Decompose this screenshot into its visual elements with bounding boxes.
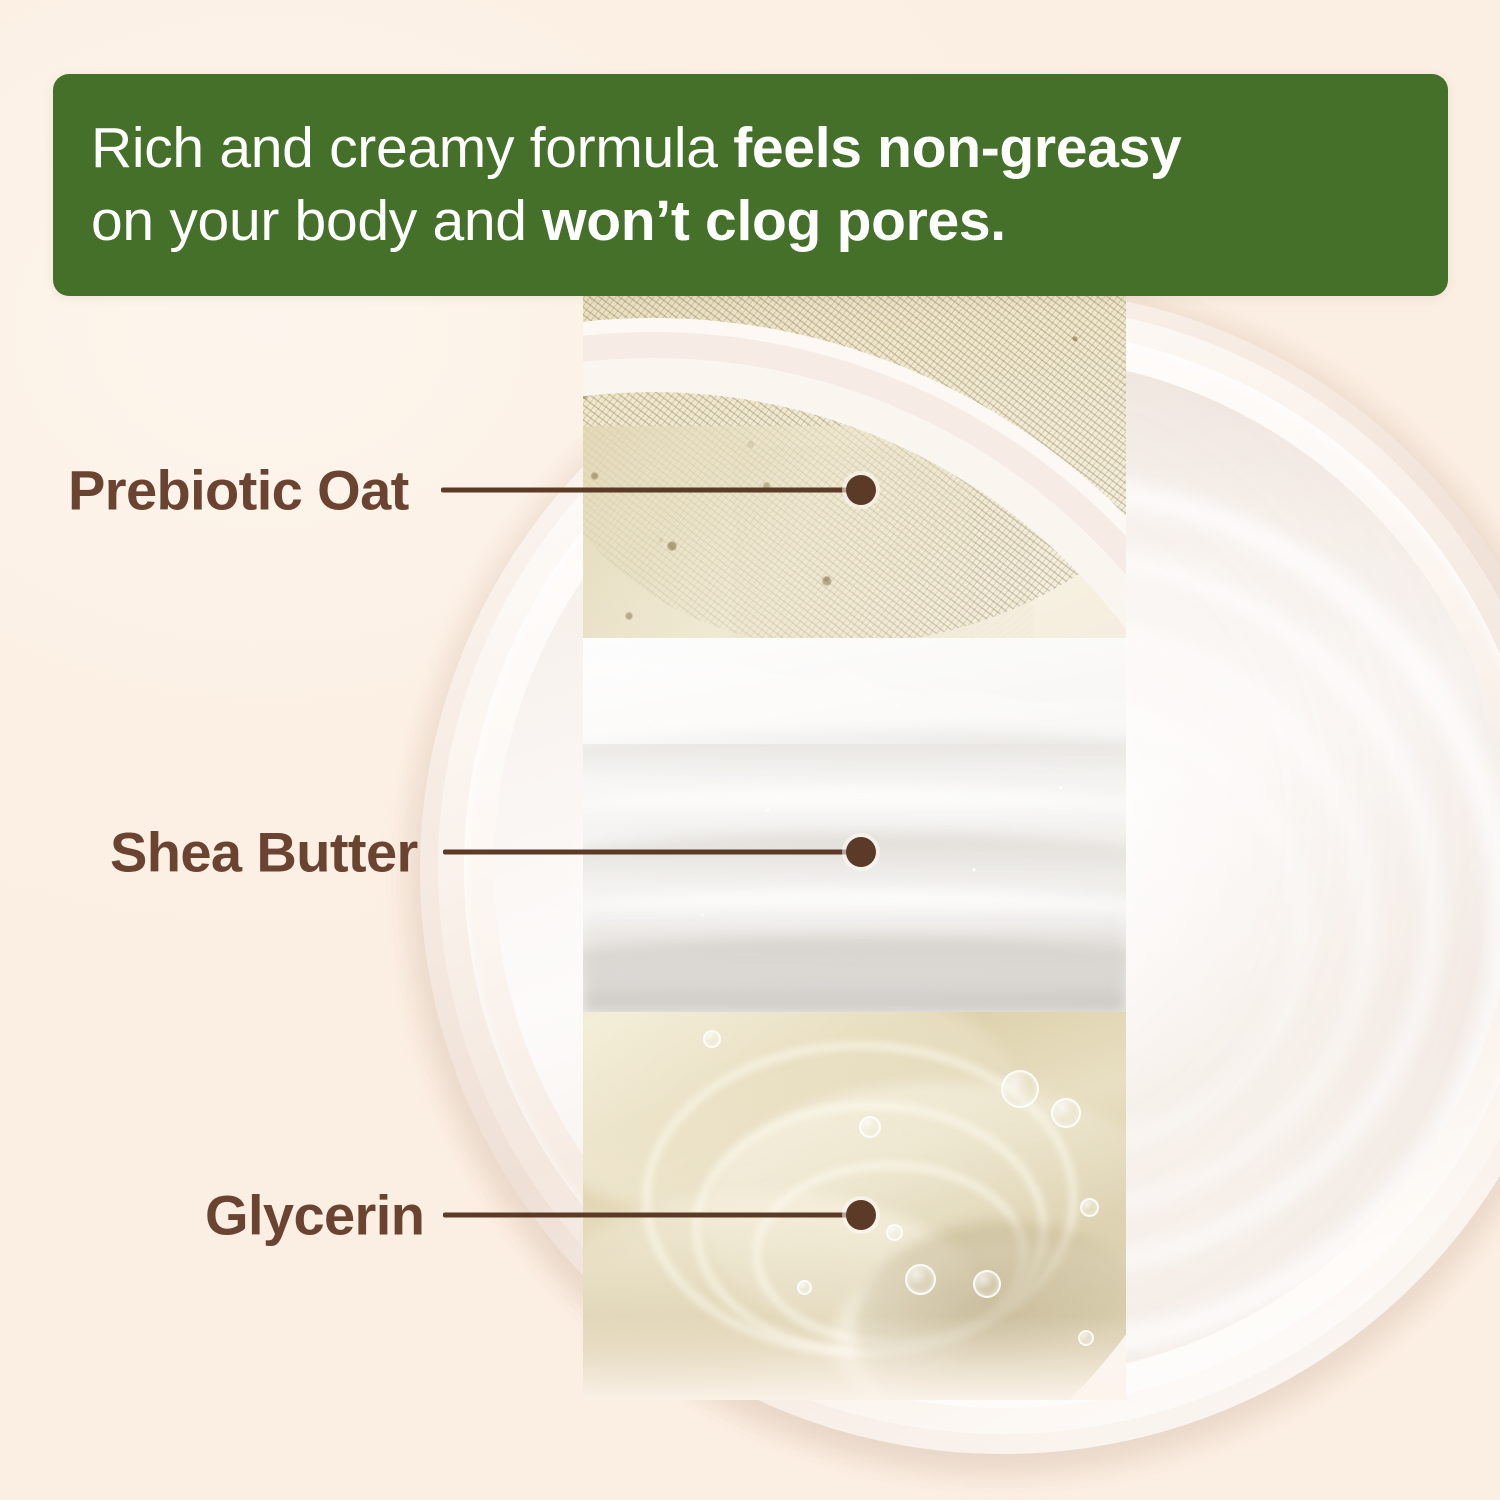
glycerin-bubble-5: [905, 1264, 936, 1295]
claim-banner-text: Rich and creamy formula feels non-greasy…: [91, 112, 1181, 258]
shea-bottom-shadow: [583, 902, 1126, 1012]
glycerin-bubble-6: [973, 1270, 1001, 1298]
claim-banner: Rich and creamy formula feels non-greasy…: [53, 74, 1448, 296]
callout-leader-line-shea-butter: [443, 850, 865, 855]
glycerin-bubble-8: [797, 1280, 812, 1295]
glycerin-bubble-1: [1001, 1070, 1039, 1108]
callout-leader-line-prebiotic-oat: [441, 488, 865, 493]
claim-line1-normal: Rich and creamy formula: [91, 116, 733, 180]
callout-label-shea-butter: Shea Butter: [110, 820, 418, 885]
panel-bottom-fade: [583, 1316, 1126, 1400]
oat-surface-ripples: [733, 446, 1033, 638]
claim-line1-bold: feels non-greasy: [733, 116, 1181, 180]
callout-dot-shea-butter: [846, 837, 876, 867]
callout-leader-line-glycerin: [443, 1213, 865, 1218]
panel-oat: [583, 296, 1126, 638]
callout-dot-glycerin: [846, 1200, 876, 1230]
glycerin-bubble-7: [1080, 1198, 1099, 1217]
callout-label-glycerin: Glycerin: [205, 1183, 424, 1248]
glycerin-bubble-2: [1051, 1098, 1081, 1128]
claim-line2-normal: on your body and: [91, 189, 542, 253]
callout-dot-prebiotic-oat: [846, 475, 876, 505]
claim-line2-bold: won’t clog pores.: [542, 189, 1006, 253]
panel-shea: [583, 638, 1126, 1012]
glycerin-bubble-10: [703, 1030, 721, 1048]
glycerin-bubble-3: [859, 1116, 881, 1138]
product-infographic: Rich and creamy formula feels non-greasy…: [0, 0, 1500, 1500]
callout-label-prebiotic-oat: Prebiotic Oat: [68, 458, 409, 523]
glycerin-bubble-4: [886, 1224, 903, 1241]
